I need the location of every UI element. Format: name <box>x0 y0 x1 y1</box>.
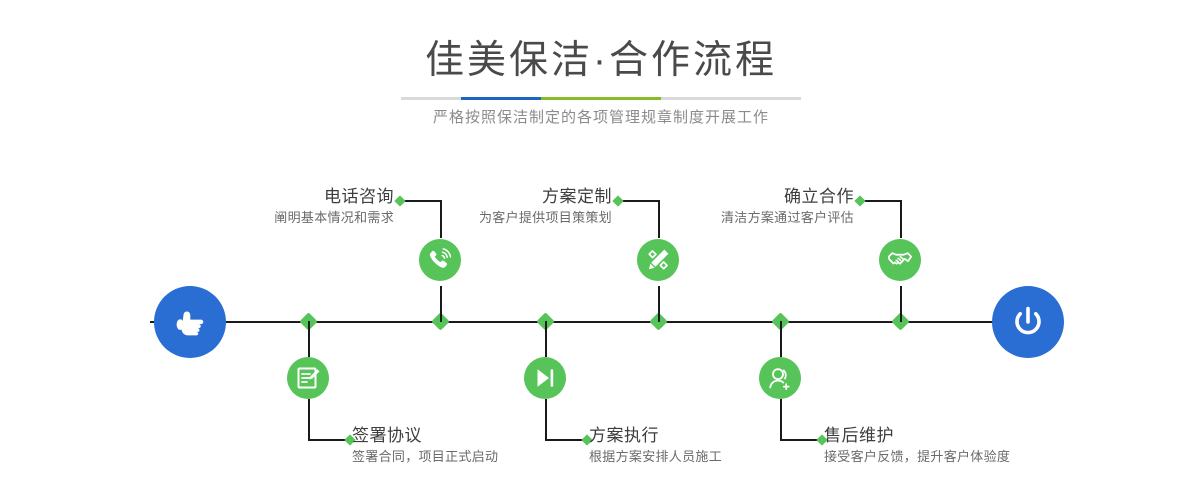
timeline-axis <box>150 321 1052 323</box>
pointing-hand-icon <box>170 302 210 342</box>
flow-diagram: 佳美保洁·合作流程 严格按照保洁制定的各项管理规章制度开展工作 <box>0 0 1202 502</box>
step-icon-play-execute <box>524 357 566 399</box>
step-title: 电话咨询 <box>150 186 394 208</box>
step-title: 售后维护 <box>824 425 1104 447</box>
connector-lead <box>860 200 902 202</box>
step-title: 方案定制 <box>370 186 612 208</box>
step-description: 为客户提供项目策策划 <box>370 208 612 228</box>
step-description: 清洁方案通过客户评估 <box>612 208 854 228</box>
document-sign-icon <box>295 365 321 391</box>
step-title: 签署协议 <box>352 425 612 447</box>
timeline-start-node <box>154 286 226 358</box>
step-icon-phone-call <box>419 239 461 281</box>
connector-corner <box>900 200 902 238</box>
step-description: 阐明基本情况和需求 <box>150 208 394 228</box>
page-title: 佳美保洁·合作流程 <box>0 38 1202 84</box>
connector-stem <box>308 321 310 357</box>
connector-corner <box>545 399 547 440</box>
connector-tip <box>854 195 865 206</box>
step-icon-handshake <box>879 239 921 281</box>
step-description: 签署合同，项目正式启动 <box>352 447 612 467</box>
connector-stem <box>780 321 782 357</box>
page-subtitle: 严格按照保洁制定的各项管理规章制度开展工作 <box>0 106 1202 130</box>
connector-stem <box>658 286 660 322</box>
step-title: 确立合作 <box>612 186 854 208</box>
step-description: 根据方案安排人员施工 <box>589 447 849 467</box>
step-label-6: 售后维护 接受客户反馈，提升客户体验度 <box>824 425 1104 467</box>
phone-call-icon <box>427 247 453 273</box>
step-icon-headset-support <box>759 357 801 399</box>
step-label-3: 方案定制 为客户提供项目策策划 <box>370 186 612 228</box>
timeline-end-node <box>992 286 1064 358</box>
divider-blue-segment <box>461 97 541 100</box>
power-icon <box>1006 300 1050 344</box>
headset-support-icon <box>767 365 793 391</box>
step-label-1: 电话咨询 阐明基本情况和需求 <box>150 186 394 228</box>
divider-green-segment <box>541 97 661 100</box>
connector-stem <box>900 286 902 322</box>
step-description: 接受客户反馈，提升客户体验度 <box>824 447 1104 467</box>
connector-stem <box>440 286 442 322</box>
connector-corner <box>780 399 782 440</box>
connector-corner <box>308 399 310 440</box>
step-icon-document-sign <box>287 357 329 399</box>
step-title: 方案执行 <box>589 425 849 447</box>
connector-stem <box>545 321 547 357</box>
step-label-4: 方案执行 根据方案安排人员施工 <box>589 425 849 467</box>
title-divider <box>401 97 801 100</box>
step-label-5: 确立合作 清洁方案通过客户评估 <box>612 186 854 228</box>
step-label-2: 签署协议 签署合同，项目正式启动 <box>352 425 612 467</box>
play-execute-icon <box>532 365 558 391</box>
pencil-design-icon <box>645 247 671 273</box>
step-icon-pencil-design <box>637 239 679 281</box>
handshake-icon <box>887 247 913 273</box>
